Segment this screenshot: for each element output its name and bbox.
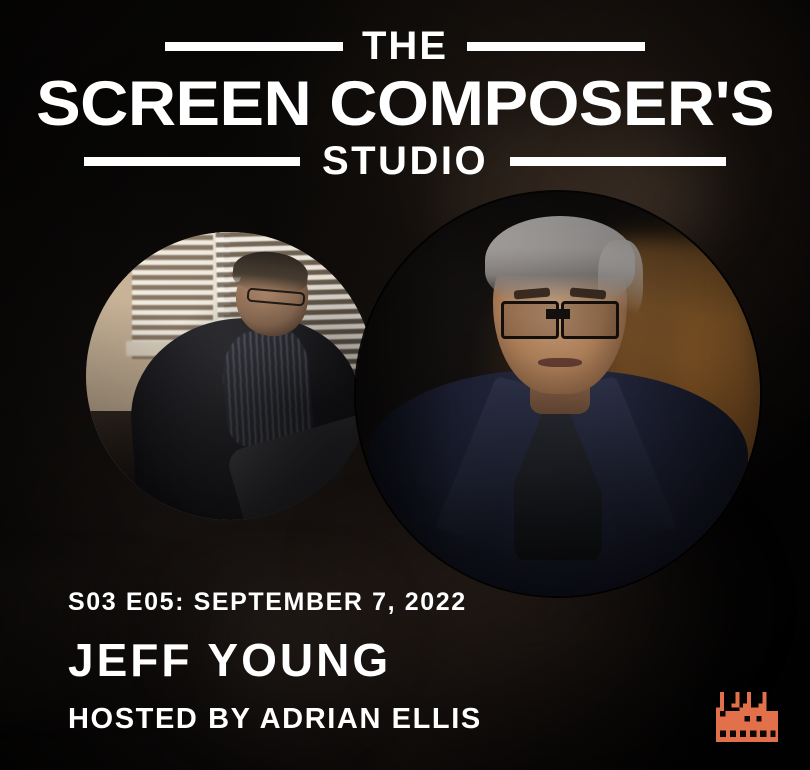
guest-portrait-image [356,192,760,596]
logo-line-main: SCREEN COMPOSER'S [36,72,774,136]
episode-meta: S03 E05: SEPTEMBER 7, 2022 JEFF YOUNG HO… [68,590,482,734]
logo-rule-studio-left [84,157,300,166]
logo-row-the: THE [165,26,645,66]
logo-line-the: THE [362,26,448,66]
podcast-cover-art: THE SCREEN COMPOSER'S STUDIO [0,0,810,770]
factory-pixel-logo [716,691,778,748]
host-portrait-image [86,232,374,520]
logo-line-studio: STUDIO [322,141,488,181]
guest-shading [356,192,760,596]
logo-rule-right [467,42,645,51]
guest-name: JEFF YOUNG [68,637,482,683]
logo-row-studio: STUDIO [84,141,726,181]
episode-number-date: S03 E05: SEPTEMBER 7, 2022 [68,590,482,615]
hosted-by: HOSTED BY ADRIAN ELLIS [68,705,482,734]
host-shading [86,232,374,520]
logo-rule-left [165,42,343,51]
logo-rule-studio-right [510,157,726,166]
show-logo: THE SCREEN COMPOSER'S STUDIO [0,26,810,181]
host-portrait [86,232,374,520]
guest-portrait [356,192,760,596]
